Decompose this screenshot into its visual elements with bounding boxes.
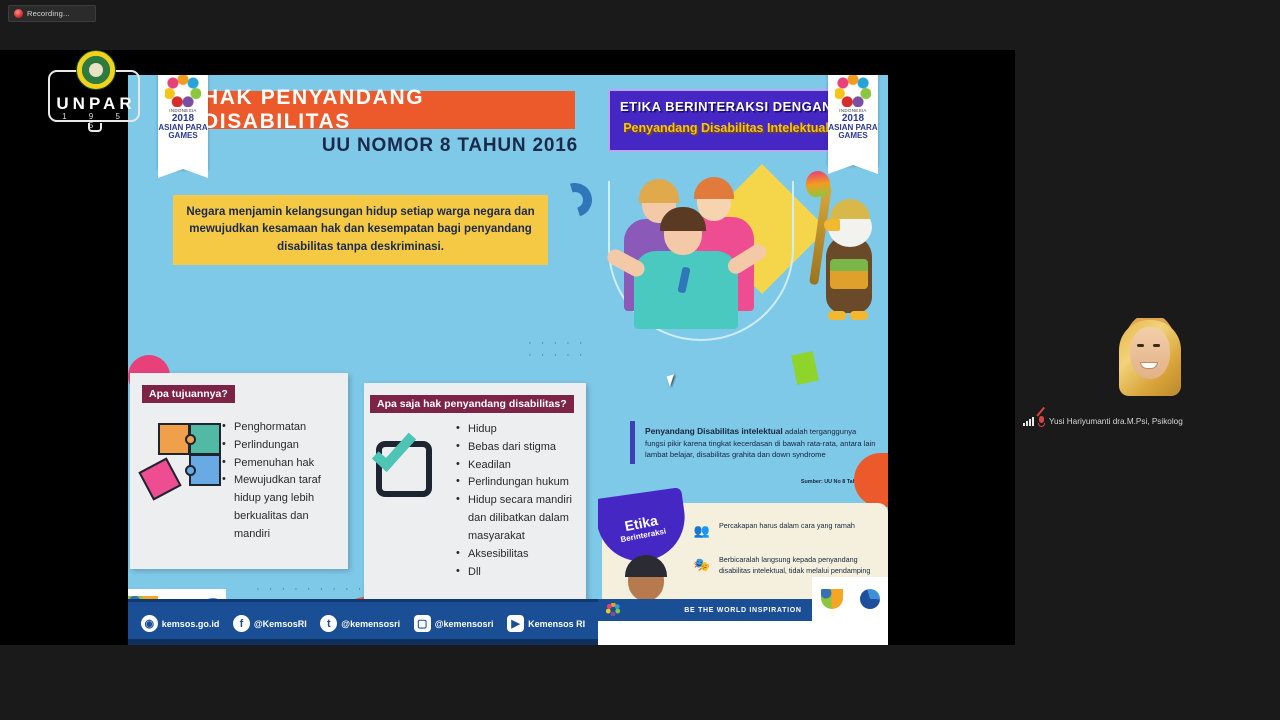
record-dot-icon: [14, 9, 23, 18]
apg-event: ASIAN PARA GAMES: [828, 124, 878, 141]
tip-text: Berbicaralah langsung kepada penyandang …: [719, 555, 886, 577]
definition-box: Penyandang Disabilitas intelektual adala…: [630, 421, 882, 464]
definition-text: Penyandang Disabilitas intelektual adala…: [645, 425, 876, 460]
apg-event: ASIAN PARA GAMES: [158, 124, 208, 141]
left-title-banner: HAK PENYANDANG DISABILITAS: [203, 91, 575, 129]
mic-muted-icon[interactable]: [1038, 416, 1045, 427]
right-infographic: INDONESIA 2018 ASIAN PARA GAMES ETIKA BE…: [598, 75, 888, 645]
social-twitter[interactable]: t @kemensosri: [320, 615, 400, 632]
rights-item-cont: dan dilibatkan dalam: [456, 510, 580, 528]
goal-item: Penghormatan: [222, 419, 342, 437]
left-title-text: HAK PENYANDANG DISABILITAS: [203, 86, 575, 134]
unpar-tail: [88, 123, 102, 132]
recording-indicator[interactable]: Recording...: [8, 5, 96, 22]
shared-screen-stage[interactable]: UNPAR 1 9 5 5 INDONESIA 2018 ASIAN PARA …: [0, 50, 1015, 645]
rights-item: Hidup: [456, 421, 580, 439]
ministry-logo-strip-right: [812, 577, 888, 621]
unpar-watermark: UNPAR 1 9 5 5: [48, 70, 140, 122]
facebook-icon: f: [233, 615, 250, 632]
kemensos-logo: [821, 589, 843, 609]
apg-petals-icon-small-left: [606, 603, 620, 616]
rights-item: Perlindungan hukum: [456, 474, 580, 492]
social-handle: kemsos.go.id: [162, 619, 220, 629]
participant-tile[interactable]: Yusi Hariyumanti dra.M.Psi, Psikolog: [1016, 300, 1280, 440]
unpar-seal-icon: [76, 50, 116, 90]
footer-base-strip: [128, 639, 598, 645]
definition-term: Penyandang Disabilitas intelektual: [645, 426, 783, 436]
apg-petals-icon: [835, 75, 871, 107]
left-infographic: INDONESIA 2018 ASIAN PARA GAMES HAK PENY…: [128, 75, 598, 645]
selfie-illustration: [598, 163, 888, 418]
globe-icon: ◉: [141, 615, 158, 632]
rights-item: Dll: [456, 564, 580, 582]
rights-list: Hidup Bebas dari stigma Keadilan Perlind…: [456, 421, 580, 581]
youtube-icon: ▶: [507, 615, 524, 632]
goal-item-cont: hidup yang lebih: [222, 490, 342, 508]
twitter-icon: t: [320, 615, 337, 632]
unpar-name: UNPAR: [50, 94, 142, 114]
rights-item: Hidup secara mandiri: [456, 492, 580, 510]
rights-item-cont: masyarakat: [456, 528, 580, 546]
goal-list: Penghormatan Perlindungan Pemenuhan hak …: [222, 419, 342, 544]
apg-petals-icon: [165, 75, 201, 107]
social-handle: @KemsosRI: [254, 619, 307, 629]
goal-card-tag: Apa tujuannya?: [142, 385, 235, 403]
asian-para-games-logo-right: INDONESIA 2018 ASIAN PARA GAMES: [828, 75, 878, 165]
recording-label: Recording...: [27, 9, 70, 18]
goal-card: Apa tujuannya? Penghormatan Perlindungan…: [130, 373, 348, 569]
social-youtube[interactable]: ▶ Kemensos RI: [507, 615, 585, 632]
blue-swoosh-decor: [552, 177, 598, 223]
dotted-divider-a: · · · · · · · · · ·: [528, 337, 598, 361]
masks-icon: 🎭: [692, 555, 712, 575]
social-handle: @kemensosri: [435, 619, 494, 629]
highlight-box: Negara menjamin kelangsungan hidup setia…: [173, 195, 548, 265]
participant-video-thumbnail[interactable]: [1117, 318, 1183, 398]
asian-para-games-logo: INDONESIA 2018 ASIAN PARA GAMES: [158, 75, 208, 169]
goal-item: Perlindungan: [222, 437, 342, 455]
zoom-meeting-window: Recording... UNPAR 1 9 5 5 INDONESIA 201…: [0, 0, 1280, 720]
rights-card-tag: Apa saja hak penyandang disabilitas?: [370, 395, 574, 413]
tip-text: Percakapan harus dalam cara yang ramah: [719, 521, 855, 532]
tip-item: 👥 Percakapan harus dalam cara yang ramah: [692, 521, 882, 541]
tip-item: 🎭 Berbicaralah langsung kepada penyandan…: [692, 555, 886, 577]
rights-item: Keadilan: [456, 457, 580, 475]
two-people-icon: 👥: [692, 521, 712, 541]
right-footer-strip: [598, 621, 888, 645]
goal-item-cont: mandiri: [222, 526, 342, 544]
right-title-banner: ETIKA BERINTERAKSI DENGAN Penyandang Dis…: [608, 89, 840, 152]
rights-item: Bebas dari stigma: [456, 439, 580, 457]
green-shape-decor: [791, 351, 819, 385]
kominfo-logo: [860, 589, 880, 609]
participant-namebar: Yusi Hariyumanti dra.M.Psi, Psikolog: [1023, 416, 1183, 427]
inspiration-banner-text: BE THE WORLD INSPIRATION: [684, 607, 801, 614]
goal-item: Pemenuhan hak: [222, 455, 342, 473]
rights-item: Aksesibilitas: [456, 546, 580, 564]
instagram-icon: ▢: [414, 615, 431, 632]
goal-item: Mewujudkan taraf: [222, 472, 342, 490]
right-title-line2: Penyandang Disabilitas Intelektual: [610, 121, 842, 135]
social-handle: @kemensosri: [341, 619, 400, 629]
torch-flame-icon: [805, 170, 832, 198]
social-handle: Kemensos RI: [528, 619, 585, 629]
puzzle-pieces-icon: [140, 421, 214, 521]
left-subtitle: UU NOMOR 8 TAHUN 2016: [208, 135, 578, 157]
rights-card: Apa saja hak penyandang disabilitas? Hid…: [364, 383, 586, 608]
highlight-text: Negara menjamin kelangsungan hidup setia…: [185, 204, 536, 256]
eagle-mascot: [810, 189, 880, 349]
dotted-divider-b: · · · · · · · · · ·: [256, 583, 377, 595]
participant-name: Yusi Hariyumanti dra.M.Psi, Psikolog: [1049, 417, 1183, 426]
social-instagram[interactable]: ▢ @kemensosri: [414, 615, 494, 632]
goal-item-cont: berkualitas dan: [222, 508, 342, 526]
signal-bars-icon: [1023, 417, 1034, 426]
social-facebook[interactable]: f @KemsosRI: [233, 615, 307, 632]
social-website[interactable]: ◉ kemsos.go.id: [141, 615, 220, 632]
right-title-line1: ETIKA BERINTERAKSI DENGAN: [610, 99, 842, 114]
